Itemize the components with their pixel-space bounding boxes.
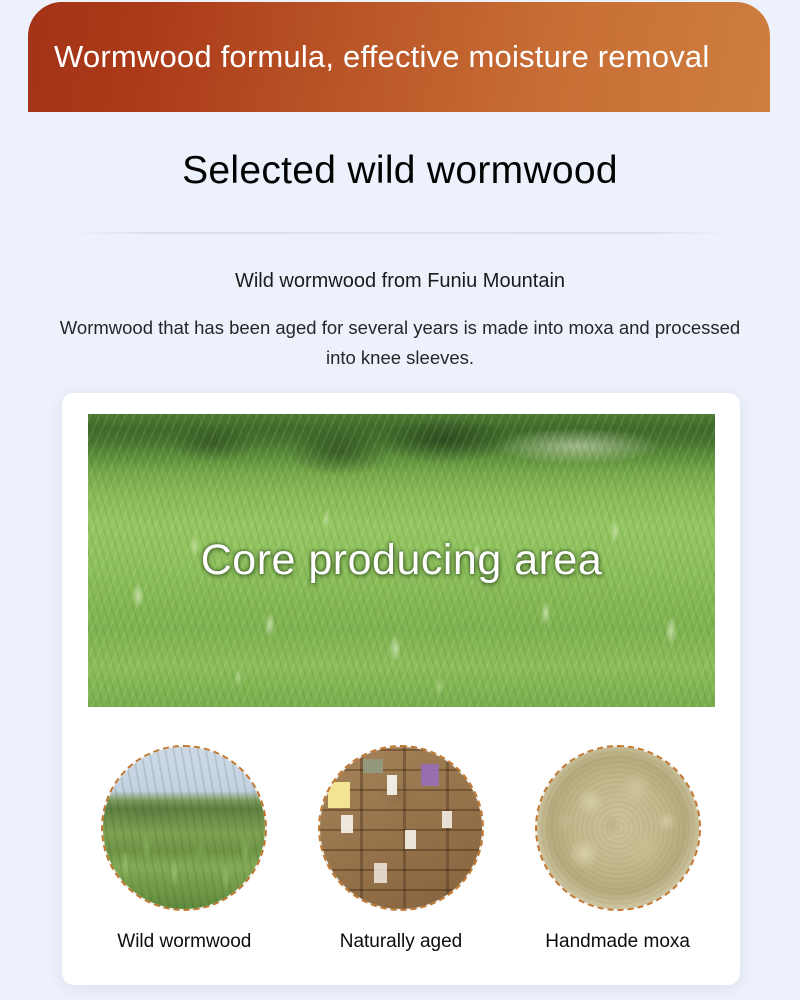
- thumbnail-circle: [535, 745, 701, 911]
- banner-headline: Wormwood formula, effective moisture rem…: [28, 40, 709, 74]
- thumbnail-row: Wild wormwood Naturally aged Handmade mo…: [76, 745, 726, 954]
- thumbnail-circle: [318, 745, 484, 911]
- hero-caption: Core producing area: [88, 414, 715, 707]
- content-card: Core producing area Wild wormwood Natura…: [62, 393, 740, 985]
- section-description: Wormwood that has been aged for several …: [50, 313, 750, 373]
- page-title: Selected wild wormwood: [0, 148, 800, 195]
- wild-wormwood-plants-image: [103, 747, 265, 909]
- hero-photo: Core producing area: [88, 414, 715, 707]
- thumbnail-label: Naturally aged: [301, 931, 501, 954]
- thumbnail-label: Handmade moxa: [518, 931, 718, 954]
- stacked-wormwood-bales-image: [320, 747, 482, 909]
- thumbnail-circle: [101, 745, 267, 911]
- thumbnail-item-naturally-aged: Naturally aged: [301, 745, 501, 954]
- section-subtitle: Wild wormwood from Funiu Mountain: [0, 268, 800, 294]
- title-divider: [74, 232, 726, 234]
- header-banner: Wormwood formula, effective moisture rem…: [28, 2, 770, 112]
- thumbnail-item-handmade-moxa: Handmade moxa: [518, 745, 718, 954]
- moxa-wool-image: [537, 747, 699, 909]
- thumbnail-label: Wild wormwood: [84, 931, 284, 954]
- thumbnail-item-wild-wormwood: Wild wormwood: [84, 745, 284, 954]
